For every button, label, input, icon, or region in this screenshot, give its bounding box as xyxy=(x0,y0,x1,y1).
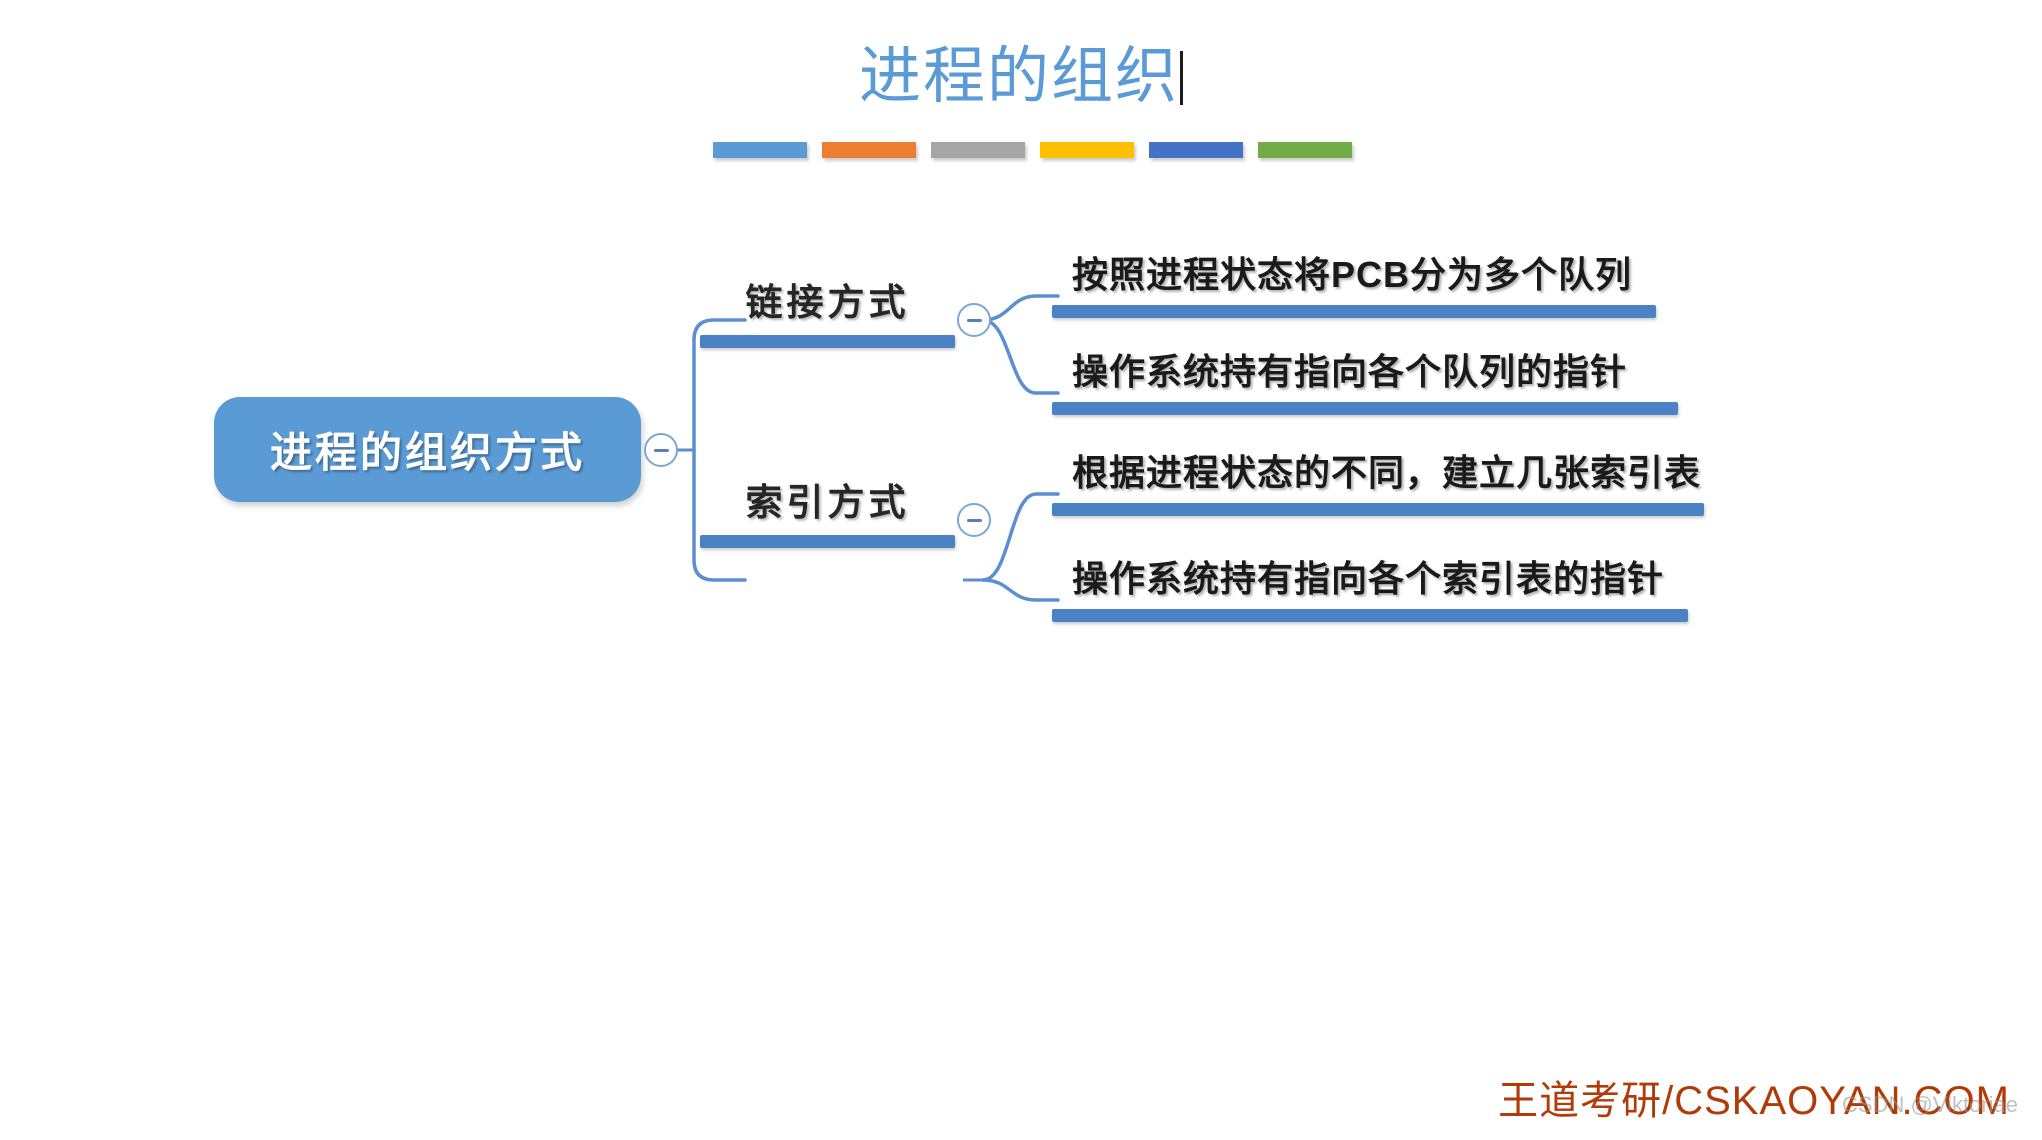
leaf-underline xyxy=(1052,402,1678,415)
color-bar-blue xyxy=(713,142,807,158)
mindmap-branch-label: 索引方式 xyxy=(700,472,955,526)
minus-circle-icon-root[interactable] xyxy=(644,433,678,467)
mindmap-branch-label: 链接方式 xyxy=(700,272,955,326)
mindmap-connectors xyxy=(0,0,2042,1140)
mindmap-leaf-node[interactable]: 操作系统持有指向各个队列的指针 xyxy=(1052,343,1678,415)
page-title-text: 进程的组织 xyxy=(859,39,1179,112)
mindmap-leaf-label: 根据进程状态的不同，建立几张索引表 xyxy=(1052,444,1704,496)
mindmap-root-label: 进程的组织方式 xyxy=(270,419,585,480)
slide-canvas: 进程的组织 进程的组织方式 xyxy=(0,0,2042,1140)
color-bar-gray xyxy=(931,142,1025,158)
mindmap-branch-index[interactable]: 索引方式 xyxy=(700,472,955,548)
minus-glyph xyxy=(967,319,982,322)
minus-glyph xyxy=(967,519,982,522)
mindmap-leaf-node[interactable]: 按照进程状态将PCB分为多个队列 xyxy=(1052,246,1656,318)
page-title[interactable]: 进程的组织 xyxy=(0,38,2042,114)
color-bar-orange xyxy=(822,142,916,158)
color-bar-darkblue xyxy=(1149,142,1243,158)
color-bar-strip xyxy=(713,142,1352,158)
leaf-underline xyxy=(1052,305,1656,318)
leaf-underline xyxy=(1052,609,1688,622)
minus-glyph xyxy=(654,449,669,452)
text-caret xyxy=(1180,51,1183,105)
csdn-watermark: CSDN @Viktoriae xyxy=(1842,1092,2018,1118)
mindmap-branch-link[interactable]: 链接方式 xyxy=(700,272,955,348)
minus-circle-icon-branch-link[interactable] xyxy=(957,303,991,337)
mindmap-leaf-label: 操作系统持有指向各个索引表的指针 xyxy=(1052,550,1688,602)
branch-underline xyxy=(700,335,955,348)
branch-underline xyxy=(700,535,955,548)
mindmap-leaf-node[interactable]: 操作系统持有指向各个索引表的指针 xyxy=(1052,550,1688,622)
leaf-underline xyxy=(1052,503,1704,516)
mindmap-diagram: 进程的组织方式 链接方式 索引方式 按照进程状态将PCB分为多个队列 操作系统持 xyxy=(0,0,2042,1140)
mindmap-leaf-label: 按照进程状态将PCB分为多个队列 xyxy=(1052,246,1656,298)
color-bar-green xyxy=(1258,142,1352,158)
color-bar-yellow xyxy=(1040,142,1134,158)
mindmap-leaf-label: 操作系统持有指向各个队列的指针 xyxy=(1052,343,1678,395)
mindmap-root-node[interactable]: 进程的组织方式 xyxy=(214,397,641,502)
mindmap-leaf-node[interactable]: 根据进程状态的不同，建立几张索引表 xyxy=(1052,444,1704,516)
minus-circle-icon-branch-index[interactable] xyxy=(957,503,991,537)
